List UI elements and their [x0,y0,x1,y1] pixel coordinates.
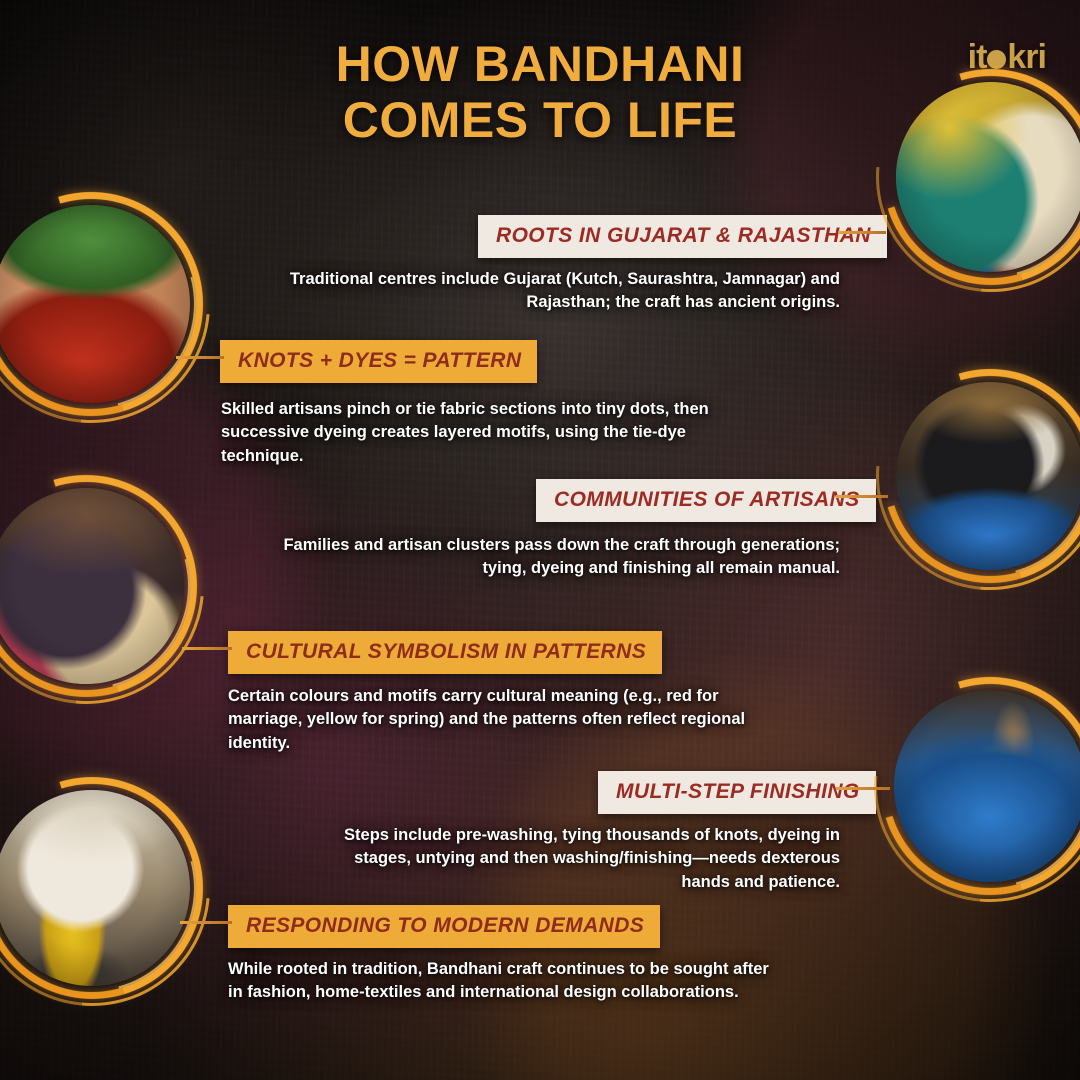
section-heading-knots-dyes-pattern: KNOTS + DYES = PATTERN [220,340,537,383]
woman-seated-tying-fabric-photo [0,488,184,684]
band-label: RESPONDING TO MODERN DEMANDS [246,914,644,937]
artisan-dyeing-in-blue-vat-photo [896,382,1080,570]
band-label: CULTURAL SYMBOLISM IN PATTERNS [246,640,646,663]
section-body-roots-in-gujarat-rajasthan: Traditional centres include Gujarat (Kut… [270,268,840,315]
section-body-communities-of-artisans: Families and artisan clusters pass down … [240,534,840,581]
band-label: COMMUNITIES OF ARTISANS [554,488,860,511]
band-label: KNOTS + DYES = PATTERN [238,349,521,372]
connector-line-5 [836,787,890,790]
section-body-responding-to-modern-demands: While rooted in tradition, Bandhani craf… [228,958,788,1005]
section-heading-roots-in-gujarat-rajasthan: ROOTS IN GUJARAT & RAJASTHAN [478,215,887,258]
connector-line-1 [838,231,886,234]
fabric-dipped-in-blue-dye-vat-photo [894,690,1080,882]
section-heading-multi-step-finishing: MULTI-STEP FINISHING [598,771,876,814]
two-women-tying-bandhani-photo [896,82,1080,272]
hands-tying-red-fabric-photo [0,205,190,403]
section-body-cultural-symbolism-in-patterns: Certain colours and motifs carry cultura… [228,685,768,755]
page-title-line-1: HOW BANDHANI [336,36,745,92]
artisan-lifting-yellow-dyed-fabric-photo [0,790,190,986]
connector-line-2 [176,356,224,359]
section-heading-communities-of-artisans: COMMUNITIES OF ARTISANS [536,479,876,522]
connector-line-3 [836,495,888,498]
section-body-multi-step-finishing: Steps include pre-washing, tying thousan… [320,824,840,894]
section-heading-responding-to-modern-demands: RESPONDING TO MODERN DEMANDS [228,905,660,948]
section-body-knots-dyes-pattern: Skilled artisans pinch or tie fabric sec… [221,398,751,468]
connector-line-4 [182,647,232,650]
section-heading-cultural-symbolism-in-patterns: CULTURAL SYMBOLISM IN PATTERNS [228,631,662,674]
band-label: ROOTS IN GUJARAT & RAJASTHAN [496,224,871,247]
band-label: MULTI-STEP FINISHING [616,780,860,803]
connector-line-6 [180,921,232,924]
